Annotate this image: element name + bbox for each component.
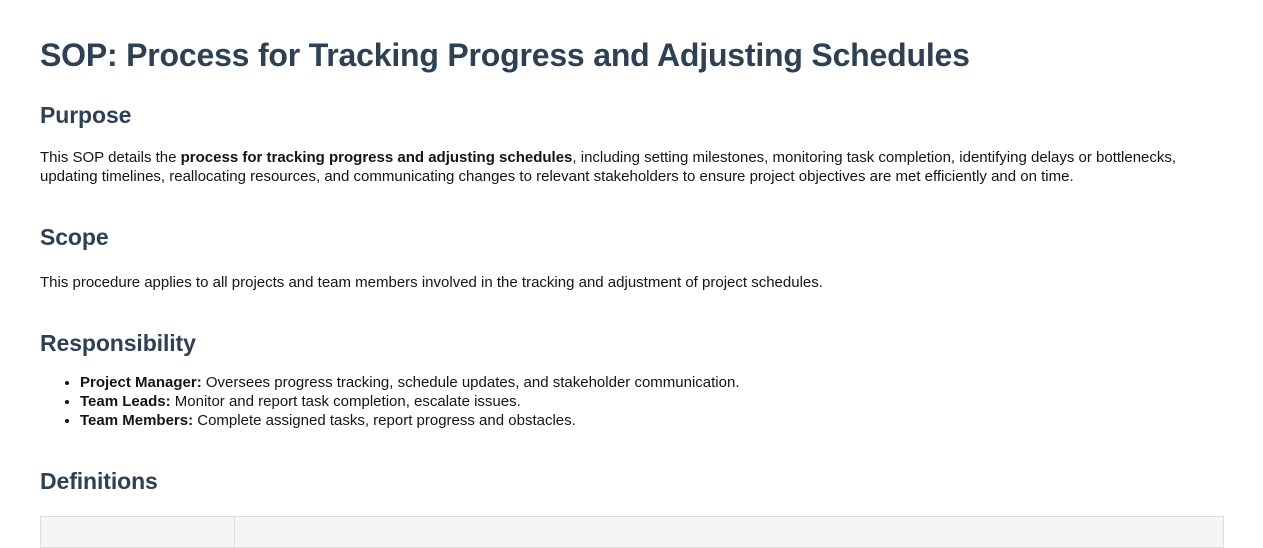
section-heading-scope: Scope (40, 186, 1223, 252)
responsibility-duty: Oversees progress tracking, schedule upd… (202, 374, 740, 391)
responsibility-role: Team Members: (80, 412, 193, 429)
purpose-text-lead: This SOP details the (40, 149, 181, 166)
responsibility-role: Team Leads: (80, 393, 171, 410)
list-item: Team Leads: Monitor and report task comp… (80, 392, 1223, 411)
responsibility-role: Project Manager: (80, 374, 202, 391)
table-header-row (41, 516, 1224, 547)
section-heading-responsibility: Responsibility (40, 292, 1223, 358)
purpose-paragraph: This SOP details the process for trackin… (40, 130, 1195, 186)
scope-paragraph: This procedure applies to all projects a… (40, 252, 1195, 292)
section-heading-definitions: Definitions (40, 430, 1223, 496)
table-header-cell-term (41, 516, 235, 547)
responsibility-duty: Complete assigned tasks, report progress… (193, 412, 576, 429)
responsibility-duty: Monitor and report task completion, esca… (171, 393, 521, 410)
definitions-table (40, 516, 1224, 548)
purpose-bold-phrase: process for tracking progress and adjust… (181, 149, 573, 166)
responsibility-list: Project Manager: Oversees progress track… (40, 357, 1223, 430)
section-heading-purpose: Purpose (40, 74, 1223, 130)
table-header-cell-definition (235, 516, 1224, 547)
document-body: SOP: Process for Tracking Progress and A… (0, 0, 1263, 548)
list-item: Project Manager: Oversees progress track… (80, 373, 1223, 392)
page-title: SOP: Process for Tracking Progress and A… (40, 0, 1223, 74)
list-item: Team Members: Complete assigned tasks, r… (80, 411, 1223, 430)
